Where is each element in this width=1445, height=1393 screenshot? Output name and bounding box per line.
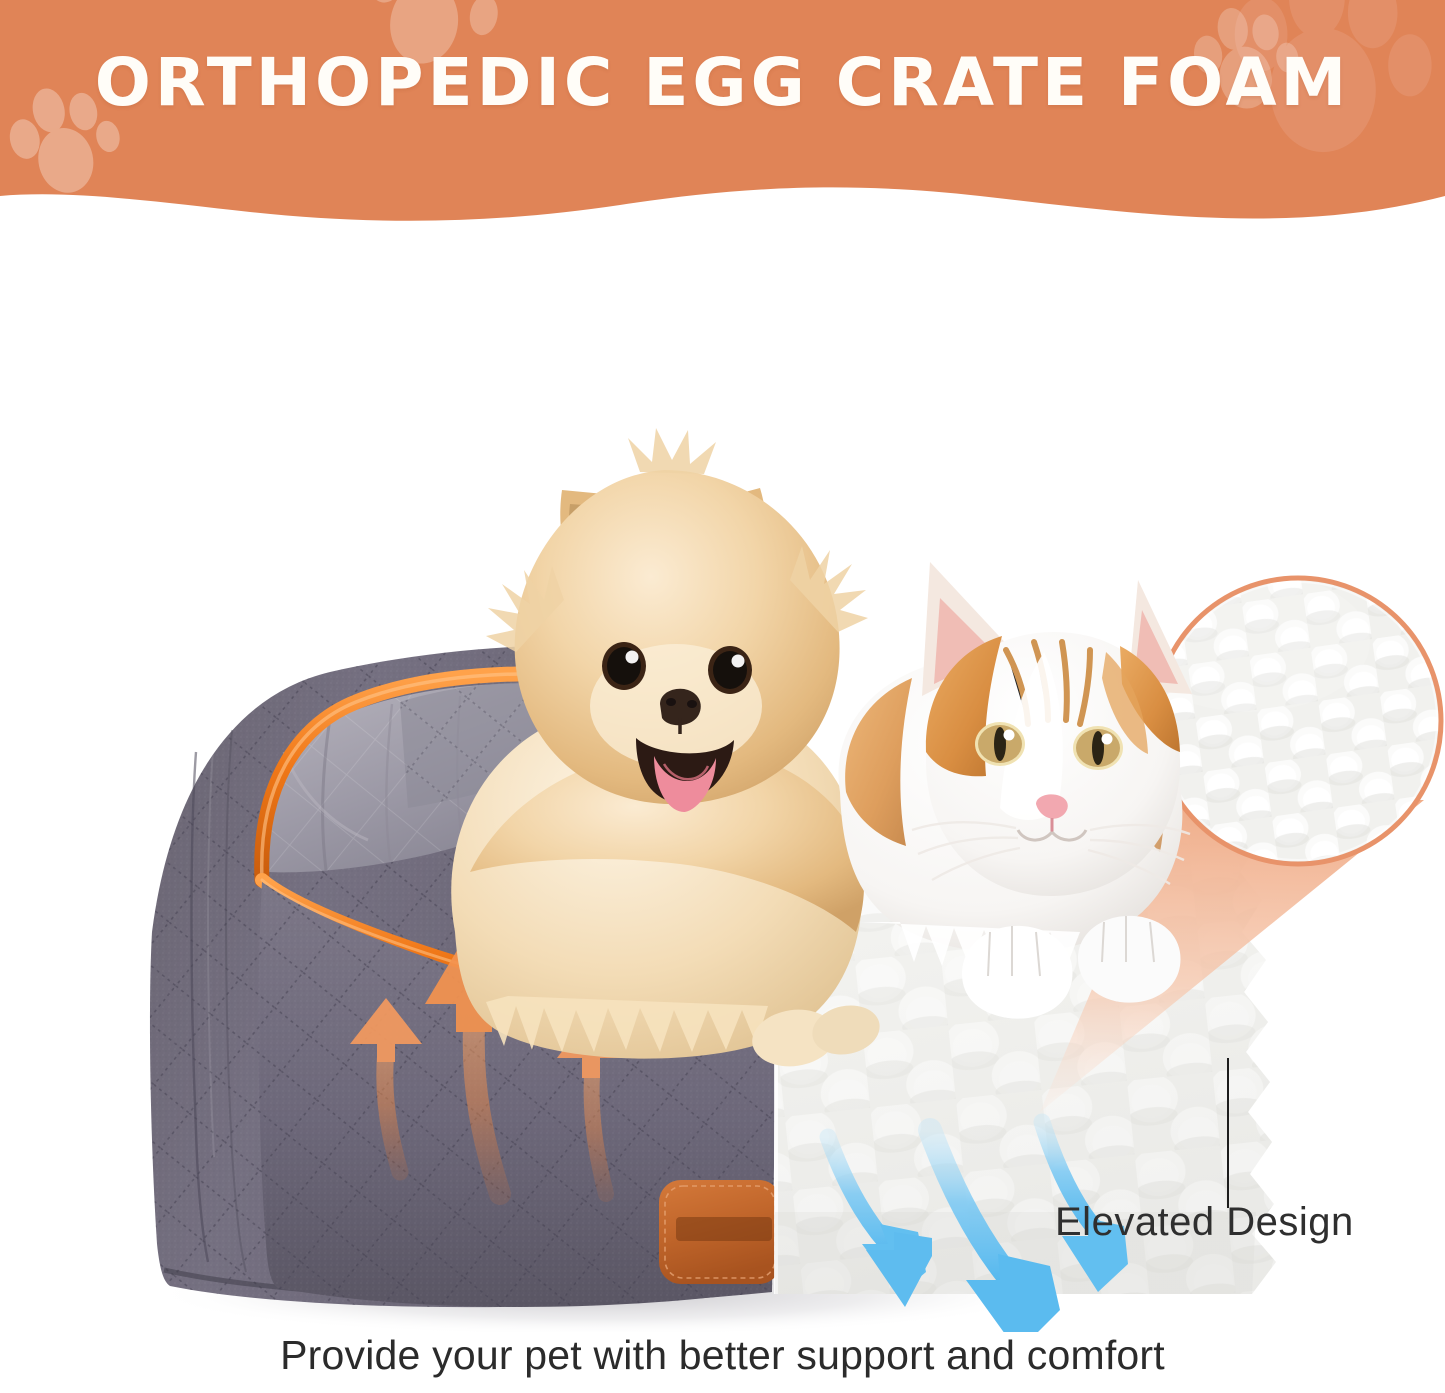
page-title: ORTHOPEDIC EGG CRATE FOAM xyxy=(0,44,1445,121)
pomeranian-dog xyxy=(451,428,884,1072)
elevated-design-label: Elevated Design xyxy=(1055,1200,1354,1245)
brand-tag xyxy=(659,1180,781,1284)
header-banner: ORTHOPEDIC EGG CRATE FOAM xyxy=(0,0,1445,232)
cat-head xyxy=(912,562,1192,896)
footer-caption: Provide your pet with better support and… xyxy=(0,1332,1445,1379)
elevated-design-measure-line xyxy=(1227,1058,1229,1208)
